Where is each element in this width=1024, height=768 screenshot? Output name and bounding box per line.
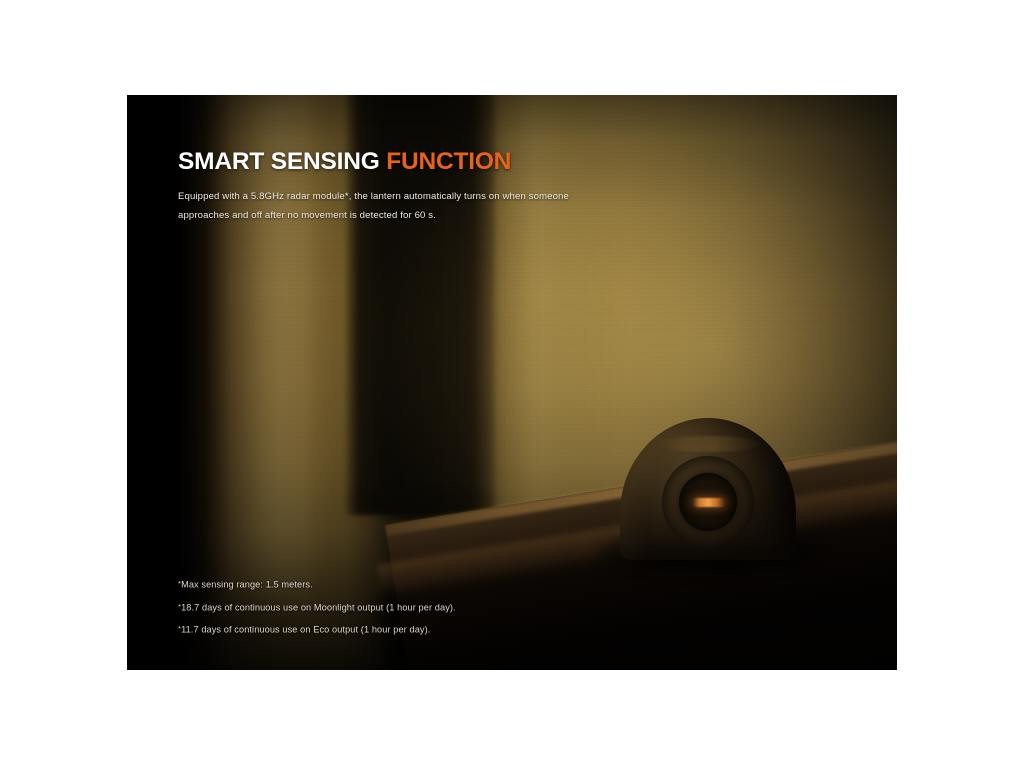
description-paragraph: Equipped with a 5.8GHz radar module*, th… [178,187,570,226]
footnote-list: *Max sensing range: 1.5 meters. *18.7 da… [178,573,456,641]
footnote-text: 18.7 days of continuous use on Moonlight… [181,602,456,612]
footnote-item: *18.7 days of continuous use on Moonligh… [178,596,456,619]
footnote-text: Max sensing range: 1.5 meters. [181,579,313,589]
page-title: SMART SENSING FUNCTION [178,150,511,175]
headline-accent-text: FUNCTION [386,148,511,175]
page-canvas: SMART SENSING FUNCTION Equipped with a 5… [0,0,1024,768]
footnote-item: *11.7 days of continuous use on Eco outp… [178,618,456,641]
product-photo: SMART SENSING FUNCTION Equipped with a 5… [127,95,897,670]
headline-main-text: SMART SENSING [178,148,380,175]
footnote-text: 11.7 days of continuous use on Eco outpu… [181,624,430,634]
footnote-item: *Max sensing range: 1.5 meters. [178,573,456,596]
photo-text-overlay: SMART SENSING FUNCTION Equipped with a 5… [127,95,897,670]
